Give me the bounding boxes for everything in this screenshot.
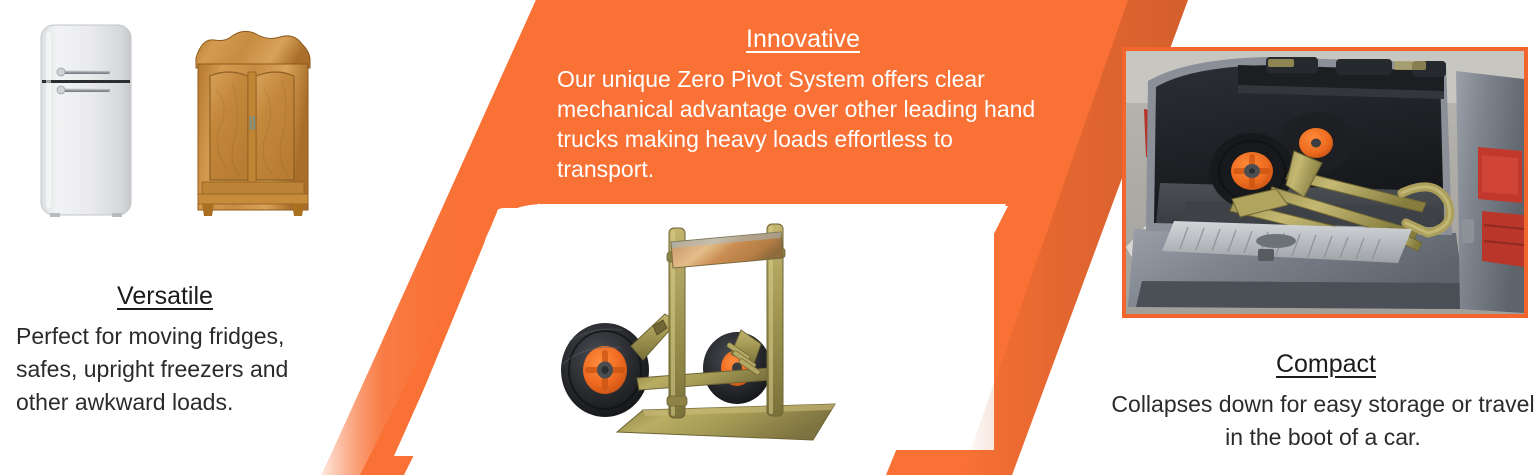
refrigerator-image	[38, 22, 134, 218]
car-boot-photo	[1122, 47, 1528, 318]
left-feature-panel: Versatile Perfect for moving fridges, sa…	[0, 0, 330, 475]
right-panel-body: Collapses down for easy storage or trave…	[1110, 388, 1536, 454]
right-panel-heading: Compact	[1120, 350, 1532, 379]
center-panel-heading: Innovative	[563, 25, 1043, 54]
wardrobe-image	[192, 30, 314, 220]
left-panel-heading: Versatile	[0, 282, 330, 311]
left-panel-body: Perfect for moving fridges, safes, uprig…	[16, 320, 332, 419]
promotional-banner: Versatile Perfect for moving fridges, sa…	[0, 0, 1536, 475]
hand-truck-image	[545, 218, 845, 453]
center-panel-body: Our unique Zero Pivot System offers clea…	[557, 64, 1039, 184]
